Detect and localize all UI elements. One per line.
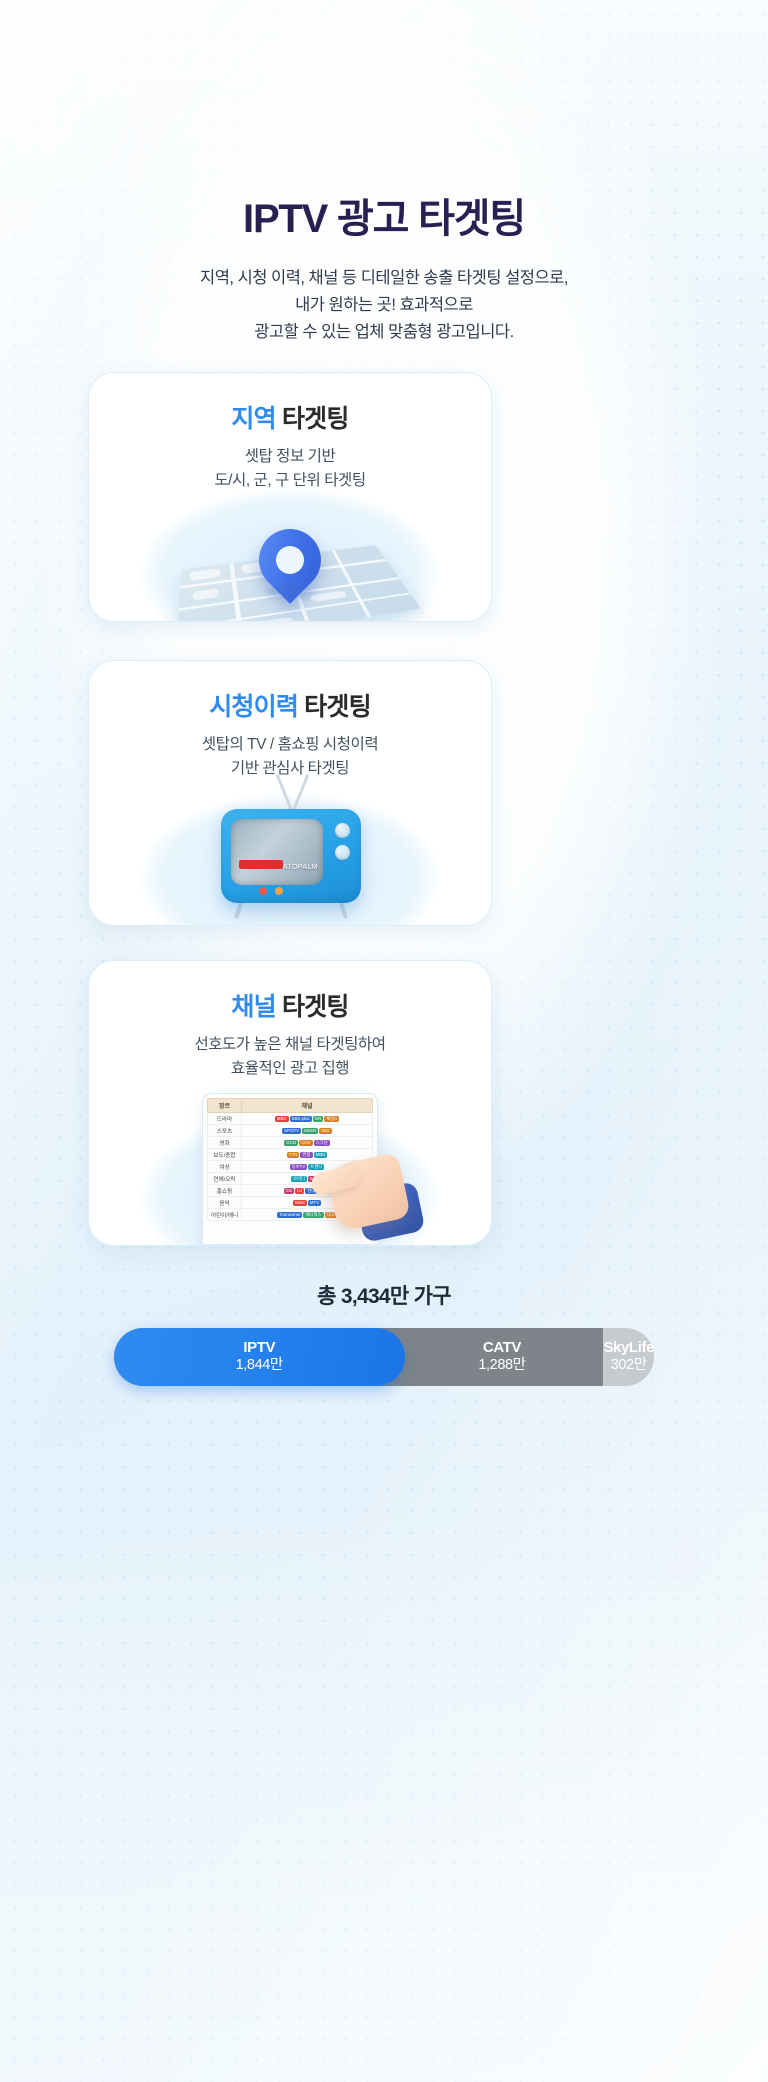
channel-table-cell-genre: 홈쇼핑 (208, 1185, 242, 1197)
card-channel-desc-line-1: 선호도가 높은 채널 타겟팅하여 (89, 1033, 491, 1057)
header: IPTV 광고 타겟팅 지역, 시청 이력, 채널 등 디테일한 송출 타겟팅 … (0, 196, 768, 345)
card-channel-title-rest: 타겟팅 (276, 993, 349, 1021)
card-channel-desc-line-2: 효율적인 광고 집행 (89, 1057, 491, 1081)
map-pin-marker (259, 529, 321, 591)
map-pin-illustration (89, 471, 491, 621)
channel-table-cell-genre: 음악 (208, 1197, 242, 1209)
stats-segment-iptv: IPTV 1,844만 (114, 1328, 405, 1386)
stats-segment-iptv-value: 1,844만 (236, 1357, 283, 1375)
card-channel-title-highlight: 채널 (231, 993, 275, 1021)
channel-logo-chip: Mnet (293, 1200, 307, 1206)
channel-table-cell-genre: 여성 (208, 1161, 242, 1173)
channel-logo-chip: YTN (287, 1152, 300, 1158)
tv-knob-upper (335, 823, 350, 838)
subtitle-line-3: 광고할 수 있는 업체 맞춤형 광고입니다. (0, 319, 768, 346)
pin-shadow (267, 585, 313, 597)
channel-table-cell-genre: 드라마 (208, 1113, 242, 1125)
stats-segment-skylife: SkyLife 302만 (603, 1328, 654, 1386)
tv-screen: ATOPALM (231, 819, 323, 885)
channel-logo-chip: SPOTV (282, 1128, 301, 1134)
card-region-title: 지역 타겟팅 (89, 399, 491, 435)
card-region-header: 지역 타겟팅 셋탑 정보 기반 도/시, 군, 구 단위 타겟팅 (89, 373, 491, 492)
stats-segment-iptv-label: IPTV (243, 1339, 275, 1357)
card-viewing-history-desc-line-1: 셋탑의 TV / 홈쇼핑 시청이력 (89, 733, 491, 757)
channel-table-cell-genre: 연예/오락 (208, 1173, 242, 1185)
channel-logo-chip: 코미디 (291, 1176, 307, 1182)
card-region-targeting: 지역 타겟팅 셋탑 정보 기반 도/시, 군, 구 단위 타겟팅 (88, 372, 492, 622)
tv-screen-logo: ATOPALM (283, 864, 318, 871)
card-viewing-history-title-rest: 타겟팅 (298, 693, 371, 721)
card-region-desc-line-1: 셋탑 정보 기반 (89, 445, 491, 469)
card-viewing-history-title: 시청이력 타겟팅 (89, 687, 491, 723)
infographic-page: IPTV 광고 타겟팅 지역, 시청 이력, 채널 등 디테일한 송출 타겟팅 … (0, 0, 768, 2082)
card-viewing-history-description: 셋탑의 TV / 홈쇼핑 시청이력 기반 관심사 타겟팅 (89, 733, 491, 780)
stats-segment-skylife-label: SkyLife (603, 1339, 654, 1357)
card-viewing-history-header: 시청이력 타겟팅 셋탑의 TV / 홈쇼핑 시청이력 기반 관심사 타겟팅 (89, 661, 491, 780)
channel-logo-chip: CJ (295, 1188, 304, 1194)
card-viewing-history-title-highlight: 시청이력 (209, 693, 298, 721)
stats-segment-skylife-value: 302만 (611, 1357, 647, 1375)
channel-logo-chip: OCN (284, 1140, 298, 1146)
tv-knob-lower (335, 845, 350, 860)
pointing-hand-illustration (309, 1107, 405, 1225)
card-region-description: 셋탑 정보 기반 도/시, 군, 구 단위 타겟팅 (89, 445, 491, 492)
tv-graphic: ATOPALM (195, 779, 385, 919)
stats-segment-catv-label: CATV (483, 1339, 521, 1357)
channel-logo-chip: Tooniverse (277, 1212, 302, 1218)
channel-logo-chip: 동아TV (290, 1164, 308, 1170)
stats-bar: IPTV 1,844만 CATV 1,288만 SkyLife 302만 (114, 1328, 654, 1386)
household-stats: 총 3,434만 가구 IPTV 1,844만 CATV 1,288만 SkyL… (0, 1280, 768, 1386)
card-channel-header: 채널 타겟팅 선호도가 높은 채널 타겟팅하여 효율적인 광고 집행 (89, 961, 491, 1080)
tv-screen-banner (239, 860, 283, 869)
page-title: IPTV 광고 타겟팅 (0, 196, 768, 243)
page-subtitle: 지역, 시청 이력, 채널 등 디테일한 송출 타겟팅 설정으로, 내가 원하는… (0, 265, 768, 345)
tv-indicator-orange (275, 887, 283, 895)
card-region-desc-line-2: 도/시, 군, 구 단위 타겟팅 (89, 469, 491, 493)
subtitle-line-2: 내가 원하는 곳! 효과적으로 (0, 292, 768, 319)
card-viewing-history-desc-line-2: 기반 관심사 타겟팅 (89, 757, 491, 781)
channel-table-cell-genre: 스포츠 (208, 1125, 242, 1137)
tv-body: ATOPALM (221, 809, 361, 903)
channel-logo-chip: GS (284, 1188, 294, 1194)
channel-table-cell-genre: 영화 (208, 1137, 242, 1149)
card-channel-description: 선호도가 높은 채널 타겟팅하여 효율적인 광고 집행 (89, 1033, 491, 1080)
channel-logo-chip: MBC (275, 1116, 289, 1122)
card-channel-targeting: 채널 타겟팅 선호도가 높은 채널 타겟팅하여 효율적인 광고 집행 장르 채널… (88, 960, 492, 1246)
card-region-title-highlight: 지역 (231, 405, 275, 433)
card-viewing-history-targeting: 시청이력 타겟팅 셋탑의 TV / 홈쇼핑 시청이력 기반 관심사 타겟팅 AT… (88, 660, 492, 926)
channel-table-hand-illustration: 장르 채널 드라마MBCSBS plustvN채널A스포츠SPOTVKBSNSB… (89, 1095, 491, 1245)
retro-tv-illustration: ATOPALM (89, 775, 491, 925)
channel-table-cell-genre: 보도/종합 (208, 1149, 242, 1161)
stats-segment-catv: CATV 1,288만 (375, 1328, 604, 1386)
channel-table-cell-genre: 어린이/애니 (208, 1209, 242, 1221)
subtitle-line-1: 지역, 시청 이력, 채널 등 디테일한 송출 타겟팅 설정으로, (0, 265, 768, 292)
stats-title: 총 3,434만 가구 (0, 1280, 768, 1310)
stats-segment-catv-value: 1,288만 (478, 1357, 525, 1375)
channel-table-col-genre: 장르 (208, 1099, 242, 1113)
card-channel-title: 채널 타겟팅 (89, 987, 491, 1023)
tv-indicator-red (259, 887, 267, 895)
card-region-title-rest: 타겟팅 (276, 405, 349, 433)
